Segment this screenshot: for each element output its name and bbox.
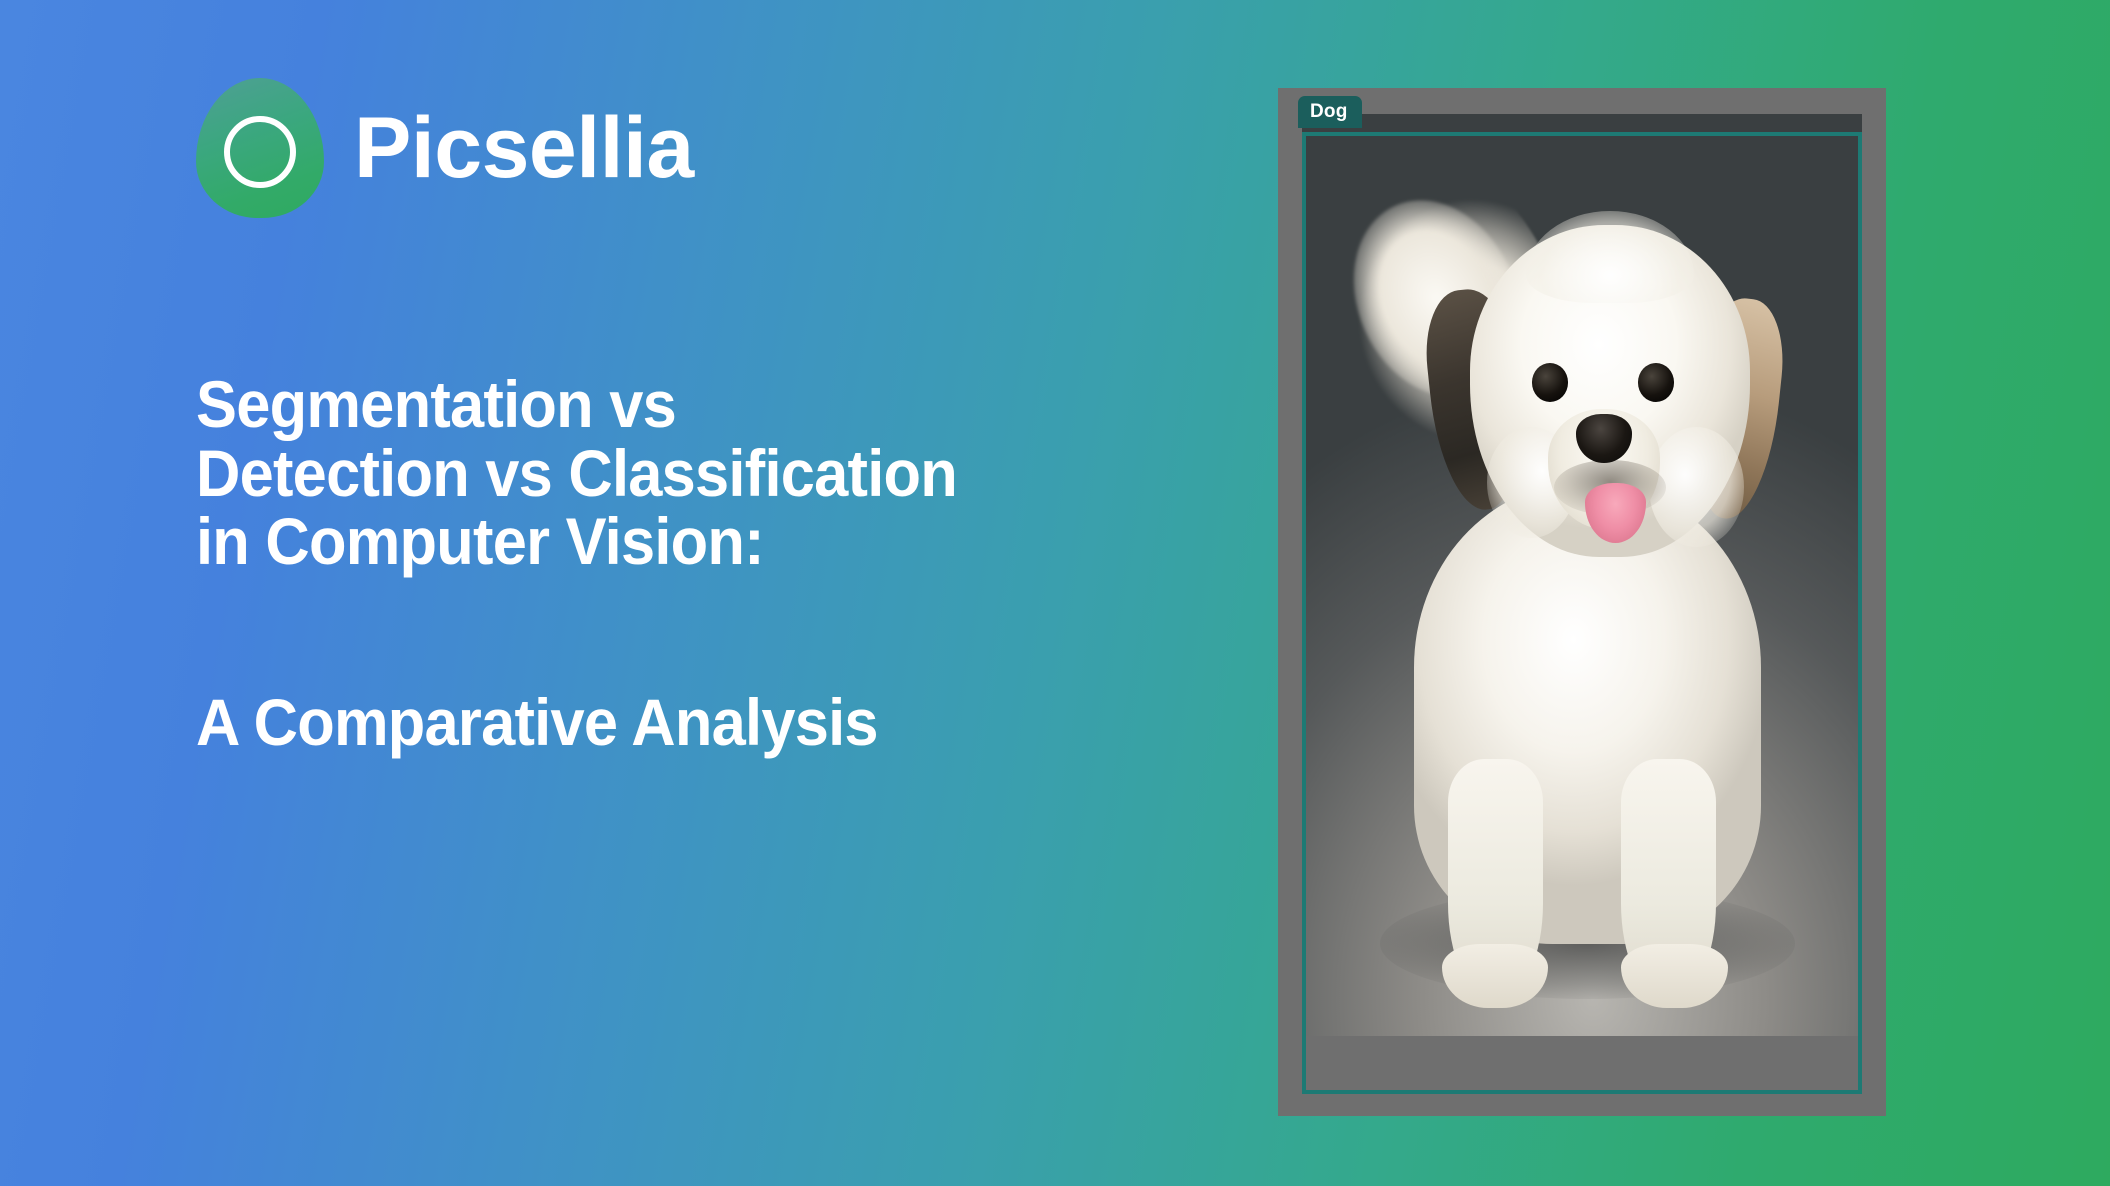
brand-wordmark: Picsellia: [354, 105, 694, 191]
headline-line-3: in Computer Vision:: [196, 507, 1135, 576]
banner-canvas: Picsellia Segmentation vs Detection vs C…: [0, 0, 2110, 1186]
brand-logo[interactable]: Picsellia: [196, 78, 694, 218]
logo-ring-shape: [224, 116, 296, 188]
headline-line-2: Detection vs Classification: [196, 439, 1135, 508]
picsellia-egg-ring-logo-icon: [196, 78, 324, 218]
dog-topknot-fur: [1526, 211, 1694, 303]
dog-photo: [1302, 114, 1862, 1036]
dog-eye-left: [1532, 363, 1568, 402]
annotated-image-panel: Dog: [1278, 88, 1886, 1116]
headline-block: Segmentation vs Detection vs Classificat…: [196, 370, 1206, 757]
dog-eye-right: [1638, 363, 1674, 402]
dog-paw-right: [1621, 944, 1727, 1009]
detection-label-dog: Dog: [1298, 96, 1362, 128]
dog-paw-left: [1442, 944, 1548, 1009]
headline-subtitle: A Comparative Analysis: [196, 688, 1135, 757]
headline-line-1: Segmentation vs: [196, 370, 1135, 439]
